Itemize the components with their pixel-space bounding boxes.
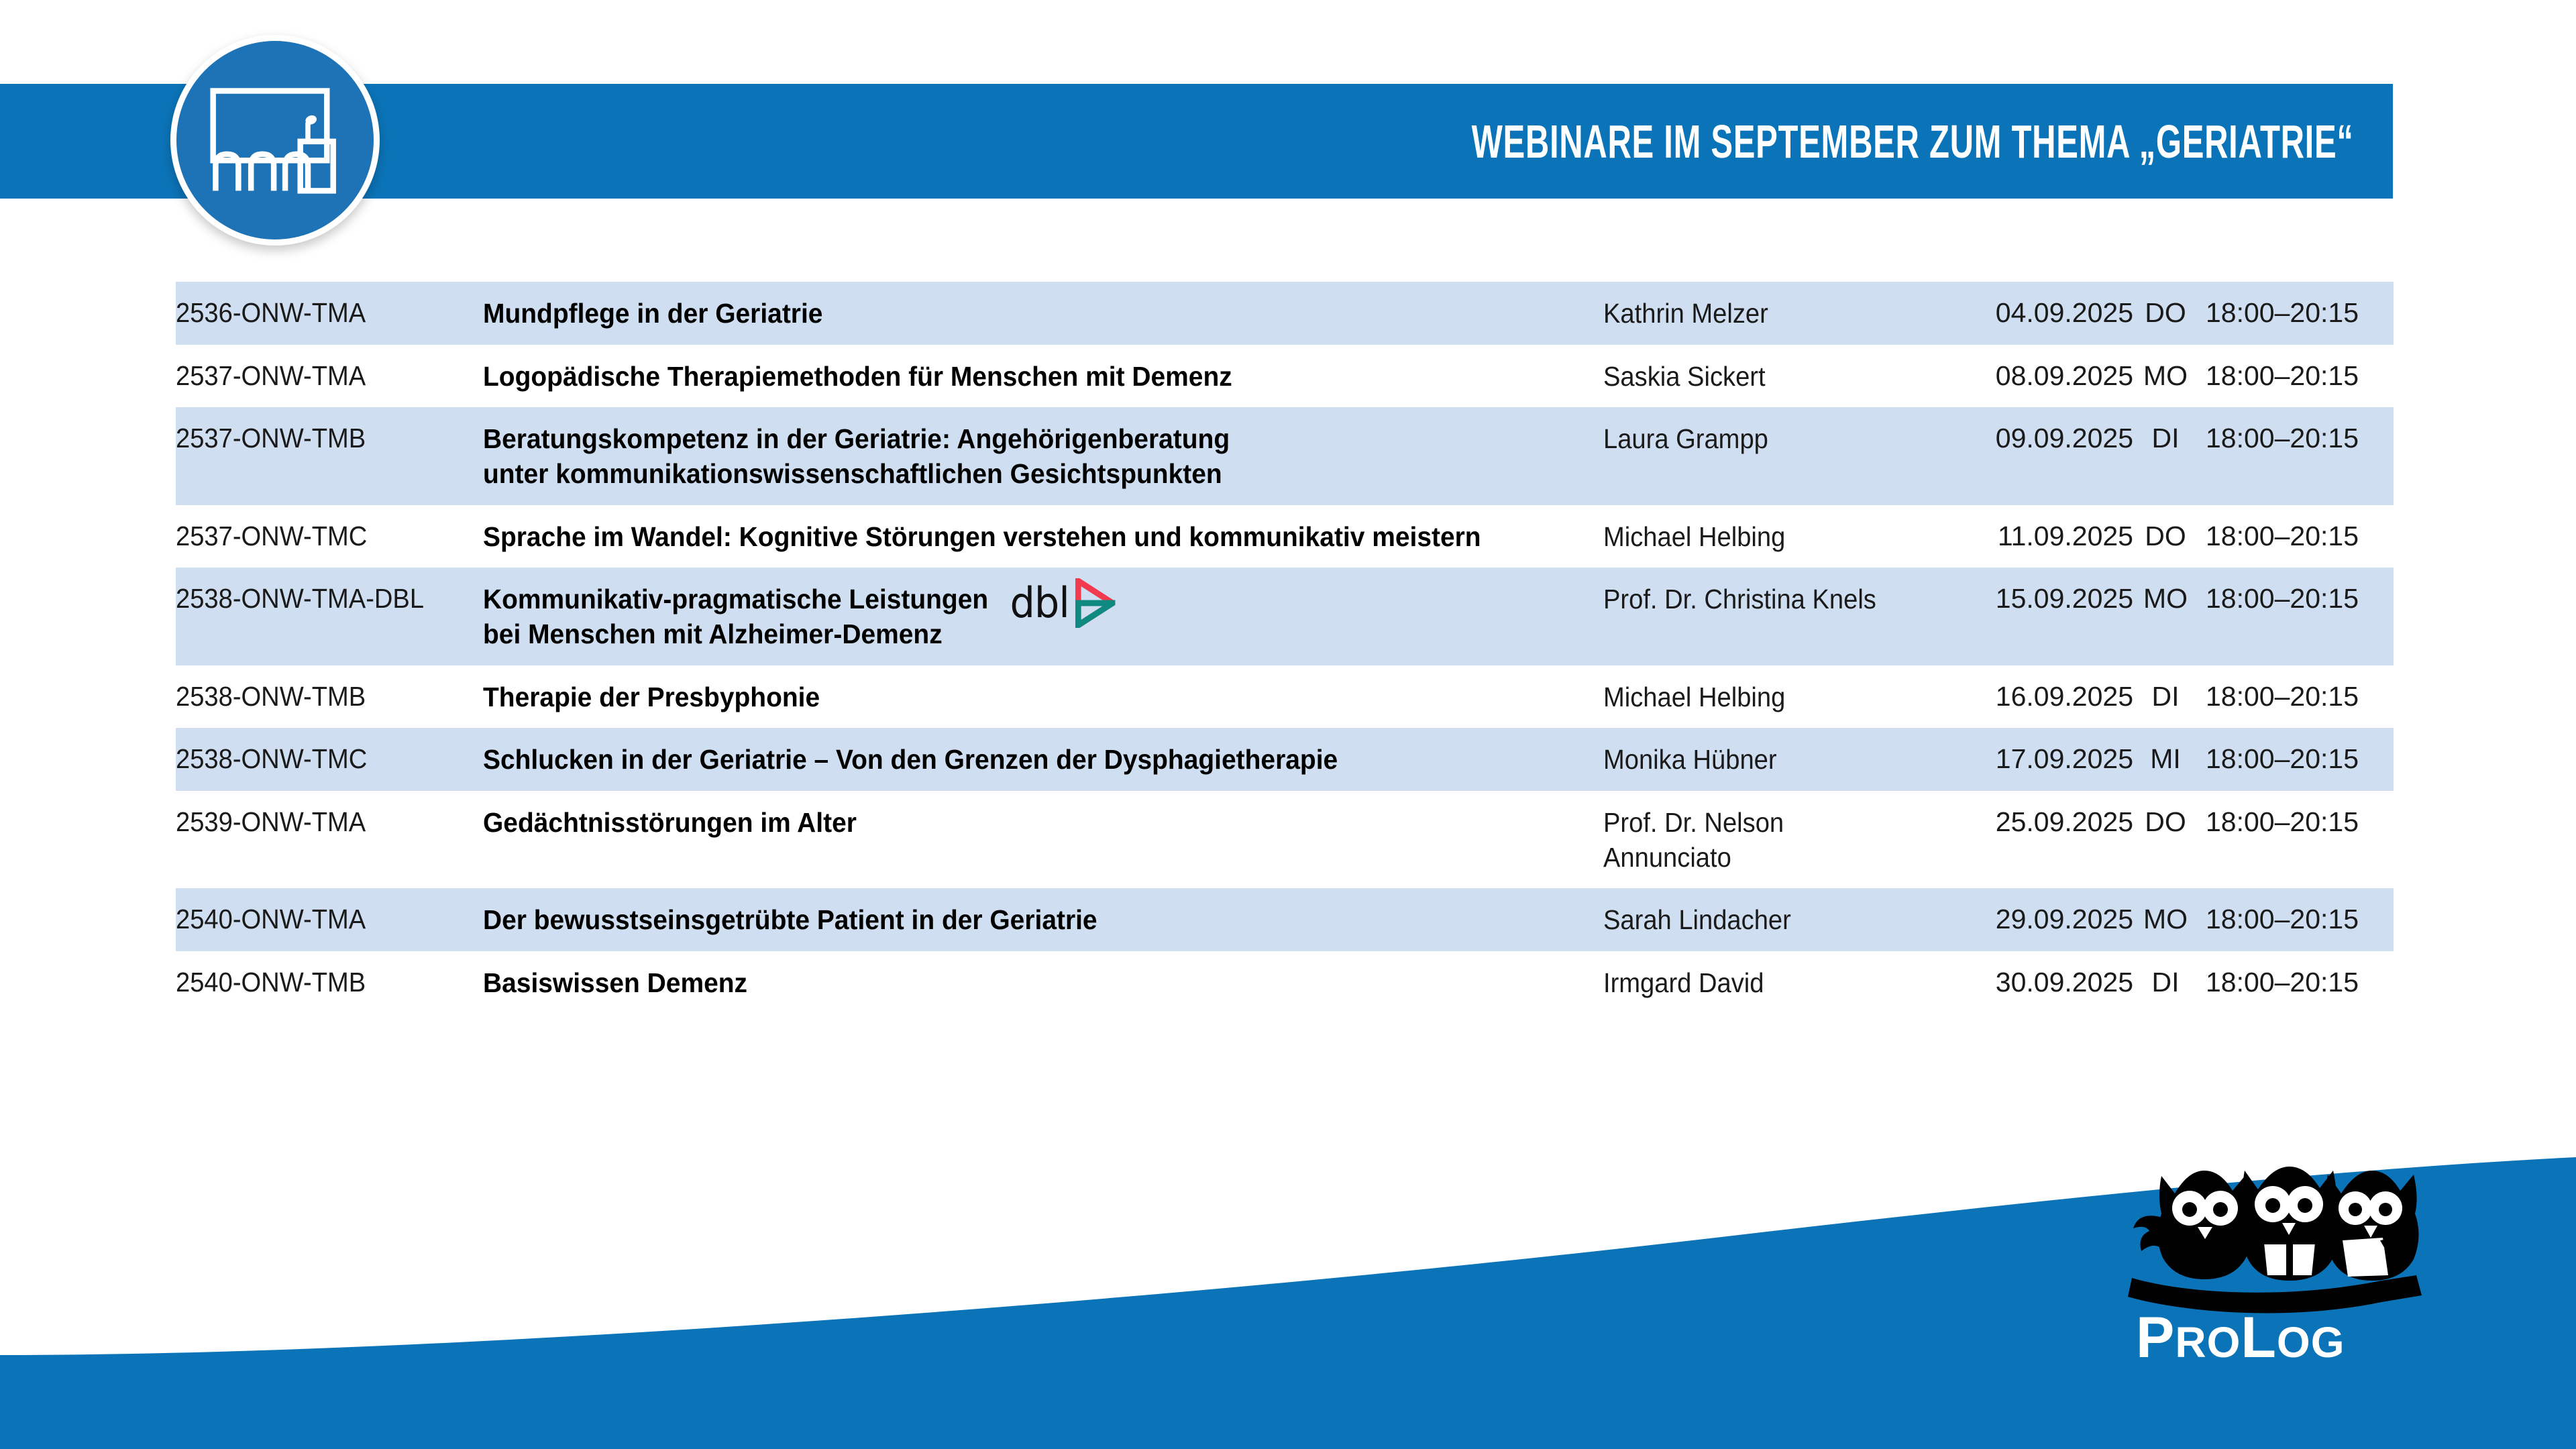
course-title: Logopädische Therapiemethoden für Mensch… [483,360,1548,394]
speaker-name: Laura Grampp [1603,422,1909,457]
speaker-name-line: Prof. Dr. Nelson [1603,806,1909,841]
course-title-line: Logopädische Therapiemethoden für Mensch… [483,360,1232,394]
course-code: 2538-ONW-TMB [176,680,462,712]
course-weekday: DO [2133,806,2198,838]
speaker-name: Monika Hübner [1603,743,1909,777]
speaker-name: Kathrin Melzer [1603,297,1909,331]
speaker-name-line: Kathrin Melzer [1603,297,1909,331]
course-date: 17.09.2025 [1932,743,2133,775]
course-title-line: Gedächtnisstörungen im Alter [483,806,857,841]
dbl-wordmark: dbl [1010,582,1069,624]
course-title: Basiswissen Demenz [483,966,1548,1001]
course-date: 09.09.2025 [1932,422,2133,454]
course-title: Beratungskompetenz in der Geriatrie: Ang… [483,422,1548,491]
table-row[interactable]: 2540-ONW-TMADer bewusstseinsgetrübte Pat… [176,888,2394,951]
table-row[interactable]: 2537-ONW-TMCSprache im Wandel: Kognitive… [176,505,2394,568]
course-date: 04.09.2025 [1932,297,2133,329]
course-title: Gedächtnisstörungen im Alter [483,806,1548,841]
course-title: Schlucken in der Geriatrie – Von den Gre… [483,743,1548,777]
course-time: 18:00–20:15 [2198,360,2394,392]
speaker-name-line: Saskia Sickert [1603,360,1909,394]
course-date: 15.09.2025 [1932,582,2133,614]
course-title-line: bei Menschen mit Alzheimer-Demenz [483,617,988,652]
course-time: 18:00–20:15 [2198,520,2394,552]
speaker-name: Michael Helbing [1603,680,1909,715]
course-title-line: Der bewusstseinsgetrübte Patient in der … [483,903,1097,938]
course-title-line: Basiswissen Demenz [483,966,747,1001]
course-code: 2539-ONW-TMA [176,806,462,838]
course-time: 18:00–20:15 [2198,743,2394,775]
course-title: Kommunikativ-pragmatische Leistungenbei … [483,582,1548,651]
table-row[interactable]: 2539-ONW-TMAGedächtnisstörungen im Alter… [176,791,2394,888]
course-code: 2536-ONW-TMA [176,297,462,329]
course-weekday: DO [2133,520,2198,552]
triangle-play-icon [1073,578,1115,628]
speaker-name: Saskia Sickert [1603,360,1909,394]
table-row[interactable]: 2536-ONW-TMAMundpflege in der GeriatrieK… [176,282,2394,345]
course-date: 08.09.2025 [1932,360,2133,392]
poster-page: WEBINARE IM SEPTEMBER ZUM THEMA „GERIATR… [0,0,2576,1449]
speaker-name-line: Irmgard David [1603,966,1909,1001]
prolog-logo: PROLOG [2127,1136,2442,1377]
course-weekday: MO [2133,582,2198,614]
course-time: 18:00–20:15 [2198,966,2394,998]
course-weekday: DI [2133,966,2198,998]
course-code: 2537-ONW-TMB [176,422,462,454]
table-row[interactable]: 2537-ONW-TMALogopädische Therapiemethode… [176,345,2394,408]
course-code: 2540-ONW-TMA [176,903,462,935]
page-title: WEBINARE IM SEPTEMBER ZUM THEMA „GERIATR… [1093,118,2354,165]
course-code: 2540-ONW-TMB [176,966,462,998]
course-title-line: Schlucken in der Geriatrie – Von den Gre… [483,743,1338,777]
course-title-line: Beratungskompetenz in der Geriatrie: Ang… [483,422,1230,457]
three-owls-on-branch-icon [2128,1167,2422,1313]
speaker-name-line: Michael Helbing [1603,680,1909,715]
speaker-name: Prof. Dr. NelsonAnnunciato [1603,806,1909,875]
course-date: 11.09.2025 [1932,520,2133,552]
table-row[interactable]: 2540-ONW-TMBBasiswissen DemenzIrmgard Da… [176,951,2394,1014]
course-title: Therapie der Presbyphonie [483,680,1548,715]
course-date: 16.09.2025 [1932,680,2133,712]
table-row[interactable]: 2538-ONW-TMCSchlucken in der Geriatrie –… [176,728,2394,791]
course-time: 18:00–20:15 [2198,422,2394,454]
course-weekday: DO [2133,297,2198,329]
course-weekday: MO [2133,903,2198,935]
course-weekday: MO [2133,360,2198,392]
course-title-line: unter kommunikationswissenschaftlichen G… [483,457,1230,492]
course-date: 25.09.2025 [1932,806,2133,838]
course-title-line: Kommunikativ-pragmatische Leistungen [483,582,988,617]
course-time: 18:00–20:15 [2198,582,2394,614]
course-time: 18:00–20:15 [2198,680,2394,712]
webinar-schedule-table: 2536-ONW-TMAMundpflege in der GeriatrieK… [176,282,2394,1014]
dbl-partner-logo: dbl [1010,578,1115,628]
course-code: 2537-ONW-TMC [176,520,462,552]
course-weekday: MI [2133,743,2198,775]
table-row[interactable]: 2538-ONW-TMA-DBLKommunikativ-pragmatisch… [176,568,2394,665]
speaker-name-line: Michael Helbing [1603,520,1909,555]
svg-text:PROLOG: PROLOG [2136,1305,2345,1370]
page-title-text: WEBINARE IM SEPTEMBER ZUM THEMA „GERIATR… [1472,118,2354,165]
speaker-name-line: Monika Hübner [1603,743,1909,777]
flipchart-presentation-icon [170,35,380,246]
course-title: Der bewusstseinsgetrübte Patient in der … [483,903,1548,938]
course-time: 18:00–20:15 [2198,297,2394,329]
course-date: 30.09.2025 [1932,966,2133,998]
table-row[interactable]: 2538-ONW-TMBTherapie der PresbyphonieMic… [176,665,2394,729]
speaker-name: Sarah Lindacher [1603,903,1909,938]
speaker-name: Michael Helbing [1603,520,1909,555]
speaker-name: Prof. Dr. Christina Knels [1603,582,1909,617]
speaker-name-line: Prof. Dr. Christina Knels [1603,582,1909,617]
speaker-name: Irmgard David [1603,966,1909,1001]
course-code: 2537-ONW-TMA [176,360,462,392]
course-title-line: Mundpflege in der Geriatrie [483,297,822,331]
course-title: Mundpflege in der Geriatrie [483,297,1548,331]
course-weekday: DI [2133,422,2198,454]
speaker-name-line: Laura Grampp [1603,422,1909,457]
course-time: 18:00–20:15 [2198,903,2394,935]
speaker-name-line: Annunciato [1603,841,1909,875]
course-code: 2538-ONW-TMC [176,743,462,775]
course-time: 18:00–20:15 [2198,806,2394,838]
table-row[interactable]: 2537-ONW-TMBBeratungskompetenz in der Ge… [176,407,2394,504]
course-title-line: Sprache im Wandel: Kognitive Störungen v… [483,520,1481,555]
course-title-line: Therapie der Presbyphonie [483,680,820,715]
course-title: Sprache im Wandel: Kognitive Störungen v… [483,520,1548,555]
course-date: 29.09.2025 [1932,903,2133,935]
speaker-name-line: Sarah Lindacher [1603,903,1909,938]
course-code: 2538-ONW-TMA-DBL [176,582,462,614]
course-weekday: DI [2133,680,2198,712]
